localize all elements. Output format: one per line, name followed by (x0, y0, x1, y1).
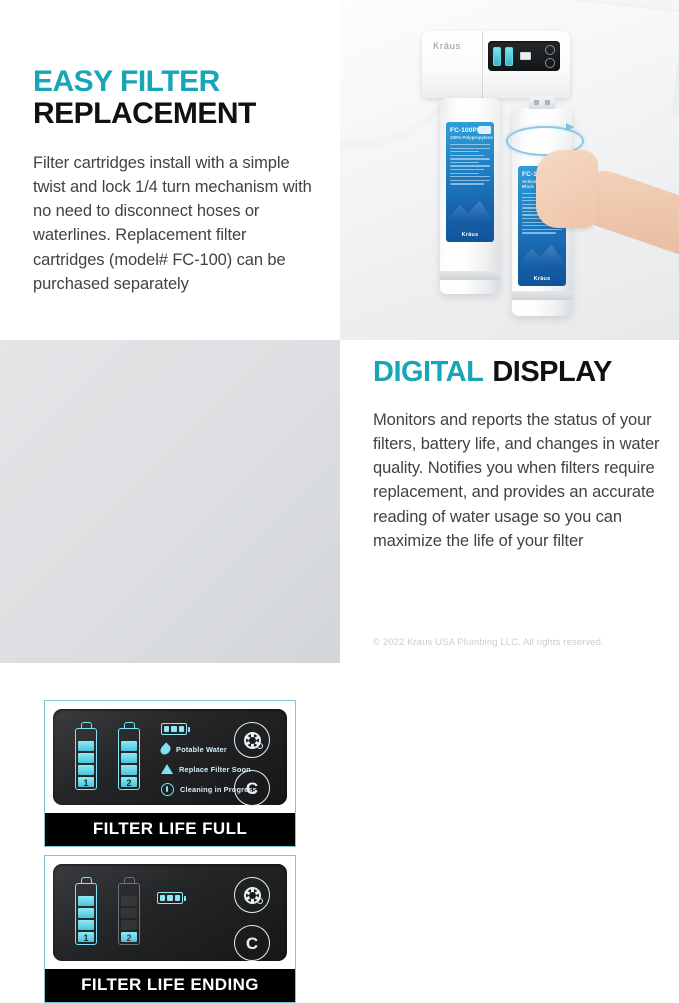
filter-gauge-1: 1 (75, 722, 97, 790)
copyright-notice: © 2022 Kraus USA Plumbing LLC. All right… (373, 637, 604, 648)
cartridge-right-footer: Kräus (518, 276, 566, 282)
easy-filter-body-text: Filter cartridges install with a simple … (33, 151, 322, 297)
gear-icon (244, 887, 261, 904)
gauge-label: 1 (76, 933, 96, 944)
mountain-graphic (446, 196, 494, 222)
filter-gauge-1: 1 (75, 877, 97, 945)
certification-badge (478, 126, 491, 134)
panel-digital-display: DIGITAL DISPLAY Monitors and reports the… (340, 340, 679, 663)
reset-icon (545, 58, 555, 68)
cartridge-left-label: FC-100PP 100% Polypropylene Kräus (446, 122, 494, 242)
unit-digital-screen (488, 41, 560, 71)
gear-icon (244, 732, 261, 749)
gear-icon (545, 45, 555, 55)
reset-button[interactable]: C (234, 925, 270, 961)
headline-accent: DIGITAL (373, 357, 483, 388)
display-screen: 1 2 (53, 864, 287, 961)
settings-button[interactable] (234, 877, 270, 913)
battery-icon (520, 52, 531, 60)
page-title: DIGITAL DISPLAY (373, 357, 661, 388)
warning-triangle-icon (161, 764, 173, 774)
gauge-label: 2 (119, 778, 139, 789)
gauge-body: 2 (118, 883, 140, 945)
filtration-system-image: Kräus FC-100PP 100% Polypropylene (340, 0, 679, 340)
display-card-filter-life-ending: 1 2 (44, 855, 296, 1003)
gauge-label: 2 (119, 933, 139, 944)
cartridge-cap (529, 97, 555, 109)
reset-button[interactable]: C (234, 770, 270, 806)
filter-gauges: 1 2 (75, 877, 140, 945)
panel-display-examples: 1 2 Potable Water (0, 340, 340, 663)
card-caption: FILTER LIFE FULL (45, 813, 295, 846)
cartridge-left-subtitle: 100% Polypropylene (450, 135, 494, 140)
filter-gauge-2: 2 (118, 877, 140, 945)
display-screen: 1 2 Potable Water (53, 709, 287, 805)
card-caption: FILTER LIFE ENDING (45, 969, 295, 1002)
reset-icon: C (246, 935, 258, 952)
headline-accent: EASY FILTER (33, 66, 322, 98)
product-photo: Kräus FC-100PP 100% Polypropylene (340, 0, 679, 340)
filter-head-unit: Kräus (422, 31, 570, 98)
battery-indicator (157, 892, 183, 904)
gauge-body: 1 (75, 728, 97, 790)
unit-buttons (545, 45, 555, 68)
filter-gauge-icon (505, 47, 513, 66)
brand-logo: Kräus (433, 41, 461, 52)
display-buttons: C (234, 877, 270, 961)
battery-icon (161, 723, 187, 735)
page-title: EASY FILTER REPLACEMENT (33, 66, 322, 130)
cartridge-collar (440, 271, 500, 280)
headline-dark: REPLACEMENT (33, 98, 322, 130)
housing-seam (482, 31, 483, 98)
mountain-graphic (518, 240, 566, 266)
digital-display-body-text: Monitors and reports the status of your … (373, 408, 661, 554)
cartridge-left-footer: Kräus (446, 232, 494, 238)
info-circle-icon (161, 783, 174, 796)
label-fineprint (450, 144, 490, 185)
reset-icon: C (246, 780, 258, 797)
gauge-body: 2 (118, 728, 140, 790)
water-drop-icon (158, 742, 172, 756)
hand-installing-cartridge (536, 150, 598, 228)
product-feature-sheet: EASY FILTER REPLACEMENT Filter cartridge… (0, 0, 679, 663)
headline-dark: DISPLAY (492, 357, 612, 388)
settings-button[interactable] (234, 722, 270, 758)
cartridge-left: FC-100PP 100% Polypropylene Kräus (440, 98, 500, 294)
filter-gauges: 1 2 (75, 722, 140, 790)
gauge-label: 1 (76, 778, 96, 789)
battery-icon (157, 892, 183, 904)
cartridge-collar (512, 291, 572, 300)
filter-gauge-icon (493, 47, 501, 66)
status-label: Potable Water (176, 745, 227, 754)
display-card-filter-life-full: 1 2 Potable Water (44, 700, 296, 847)
panel-easy-filter-replacement: EASY FILTER REPLACEMENT Filter cartridge… (0, 0, 340, 340)
display-buttons: C (234, 722, 270, 806)
gauge-body: 1 (75, 883, 97, 945)
filter-gauge-2: 2 (118, 722, 140, 790)
